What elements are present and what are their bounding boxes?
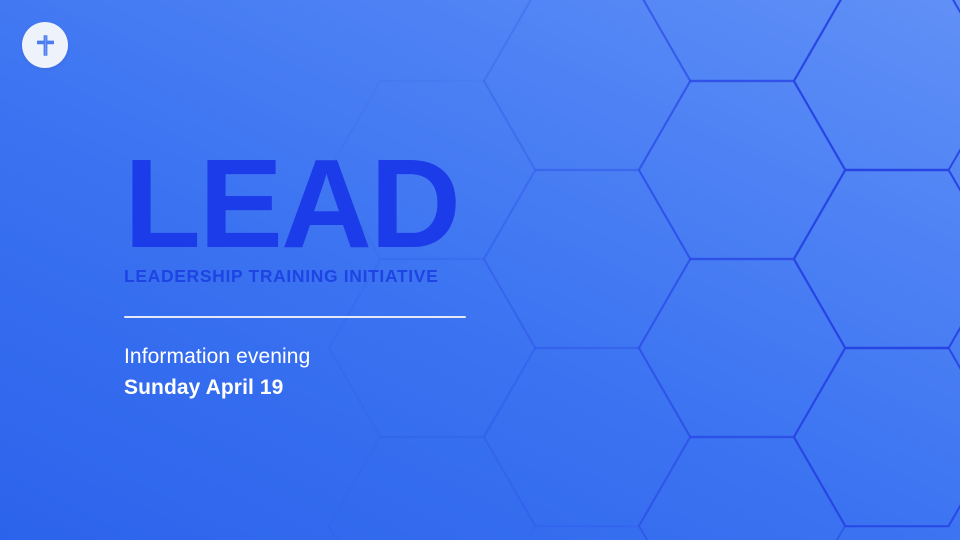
presentation-slide: LEAD LEADERSHIP TRAINING INITIATIVE Info… — [0, 0, 960, 540]
cross-icon — [35, 34, 56, 57]
slide-subtitle: LEADERSHIP TRAINING INITIATIVE — [124, 266, 644, 287]
slide-content: LEAD LEADERSHIP TRAINING INITIATIVE Info… — [124, 150, 644, 403]
event-name: Information evening — [124, 342, 644, 372]
page-title: LEAD — [124, 150, 644, 258]
event-date: Sunday April 19 — [124, 373, 644, 403]
logo-badge — [22, 22, 68, 68]
divider-rule — [124, 316, 466, 318]
event-details: Information evening Sunday April 19 — [124, 342, 644, 403]
